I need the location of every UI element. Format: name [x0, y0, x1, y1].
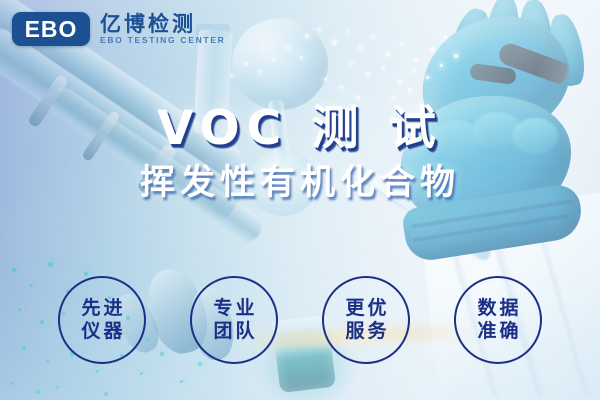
feature-badge-row: 先进仪器专业团队更优服务数据准确	[0, 276, 600, 364]
logo-mark-text: EBO	[25, 18, 78, 41]
feature-badge-label: 准确	[474, 321, 521, 342]
feature-badge-label: 团队	[210, 321, 257, 342]
feature-badge-label: 先进	[78, 298, 125, 319]
page-title: VOC 测 试	[0, 104, 600, 154]
feature-badge-label: 数据	[474, 298, 521, 319]
feature-badge-better-service[interactable]: 更优服务	[322, 276, 410, 364]
feature-badge-label: 专业	[210, 298, 257, 319]
voc-testing-banner: EBO 亿博检测 EBO TESTING CENTER VOC 测 试 挥发性有…	[0, 0, 600, 400]
feature-badge-label: 服务	[342, 321, 389, 342]
feature-badge-label: 仪器	[78, 321, 125, 342]
company-name-cn: 亿博检测	[100, 13, 226, 35]
feature-badge-accurate-data[interactable]: 数据准确	[454, 276, 542, 364]
feature-badge-professional-team[interactable]: 专业团队	[190, 276, 278, 364]
page-subtitle: 挥发性有机化合物	[0, 164, 600, 203]
logo-mark-box: EBO	[12, 12, 90, 46]
headline-block: VOC 测 试 挥发性有机化合物	[0, 104, 600, 202]
company-name-en: EBO TESTING CENTER	[100, 36, 226, 45]
brand-logo[interactable]: EBO 亿博检测 EBO TESTING CENTER	[12, 12, 226, 46]
feature-badge-advanced-instruments[interactable]: 先进仪器	[58, 276, 146, 364]
feature-badge-label: 更优	[342, 298, 389, 319]
logo-text-group: 亿博检测 EBO TESTING CENTER	[100, 13, 226, 45]
